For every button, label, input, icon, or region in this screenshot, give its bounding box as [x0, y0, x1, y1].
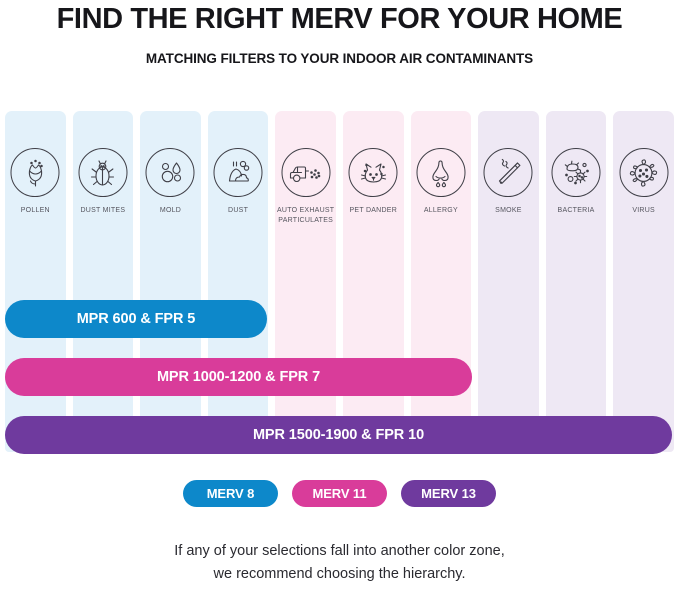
header: FIND THE RIGHT MERV FOR YOUR HOME MATCHI…	[0, 0, 679, 66]
column-label: PET DANDER	[343, 206, 404, 216]
virus-icon	[619, 148, 668, 197]
column-dust[interactable]: DUST	[208, 111, 269, 452]
column-allergy[interactable]: ALLERGY	[411, 111, 472, 452]
page-title: FIND THE RIGHT MERV FOR YOUR HOME	[0, 2, 679, 36]
dust-cloud-icon	[214, 148, 263, 197]
legend-badge-merv-8[interactable]: MERV 8	[183, 480, 278, 507]
column-label: SMOKE	[478, 206, 539, 216]
merv-bar-mpr600-fpr5[interactable]: MPR 600 & FPR 5	[5, 300, 267, 338]
merv-bar-mpr1000-1200-fpr7[interactable]: MPR 1000-1200 & FPR 7	[5, 358, 472, 396]
cat-face-icon	[349, 148, 398, 197]
column-mold[interactable]: MOLD	[140, 111, 201, 452]
column-label: VIRUS	[613, 206, 674, 216]
contaminant-columns: POLLEN DUST MITES	[5, 111, 674, 452]
column-virus[interactable]: VIRUS	[613, 111, 674, 452]
mold-spores-icon	[146, 148, 195, 197]
column-label: DUST MITES	[73, 206, 134, 216]
column-label: DUST	[208, 206, 269, 216]
column-label: POLLEN	[5, 206, 66, 216]
footer-line-1: If any of your selections fall into anot…	[0, 540, 679, 563]
legend-badge-merv-11[interactable]: MERV 11	[292, 480, 387, 507]
column-pollen[interactable]: POLLEN	[5, 111, 66, 452]
column-bacteria[interactable]: BACTERIA	[546, 111, 607, 452]
column-pet-dander[interactable]: PET DANDER	[343, 111, 404, 452]
footer-line-2: we recommend choosing the hierarchy.	[0, 563, 679, 586]
merv-legend: MERV 8 MERV 11 MERV 13	[0, 480, 679, 507]
column-smoke[interactable]: SMOKE	[478, 111, 539, 452]
merv-bar-mpr1500-1900-fpr10[interactable]: MPR 1500-1900 & FPR 10	[5, 416, 672, 454]
cigarette-smoke-icon	[484, 148, 533, 197]
footer-note: If any of your selections fall into anot…	[0, 540, 679, 586]
nose-drip-icon	[416, 148, 465, 197]
legend-badge-merv-13[interactable]: MERV 13	[401, 480, 496, 507]
bacteria-icon	[552, 148, 601, 197]
column-auto-exhaust-particulates[interactable]: AUTO EXHAUST PARTICULATES	[275, 111, 336, 452]
pollen-flower-icon	[11, 148, 60, 197]
car-exhaust-icon	[281, 148, 330, 197]
dust-mite-bug-icon	[78, 148, 127, 197]
column-label: AUTO EXHAUST PARTICULATES	[275, 206, 336, 225]
column-label: BACTERIA	[546, 206, 607, 216]
column-label: ALLERGY	[411, 206, 472, 216]
column-label: MOLD	[140, 206, 201, 216]
column-dust-mites[interactable]: DUST MITES	[73, 111, 134, 452]
page-subtitle: MATCHING FILTERS TO YOUR INDOOR AIR CONT…	[0, 51, 679, 66]
